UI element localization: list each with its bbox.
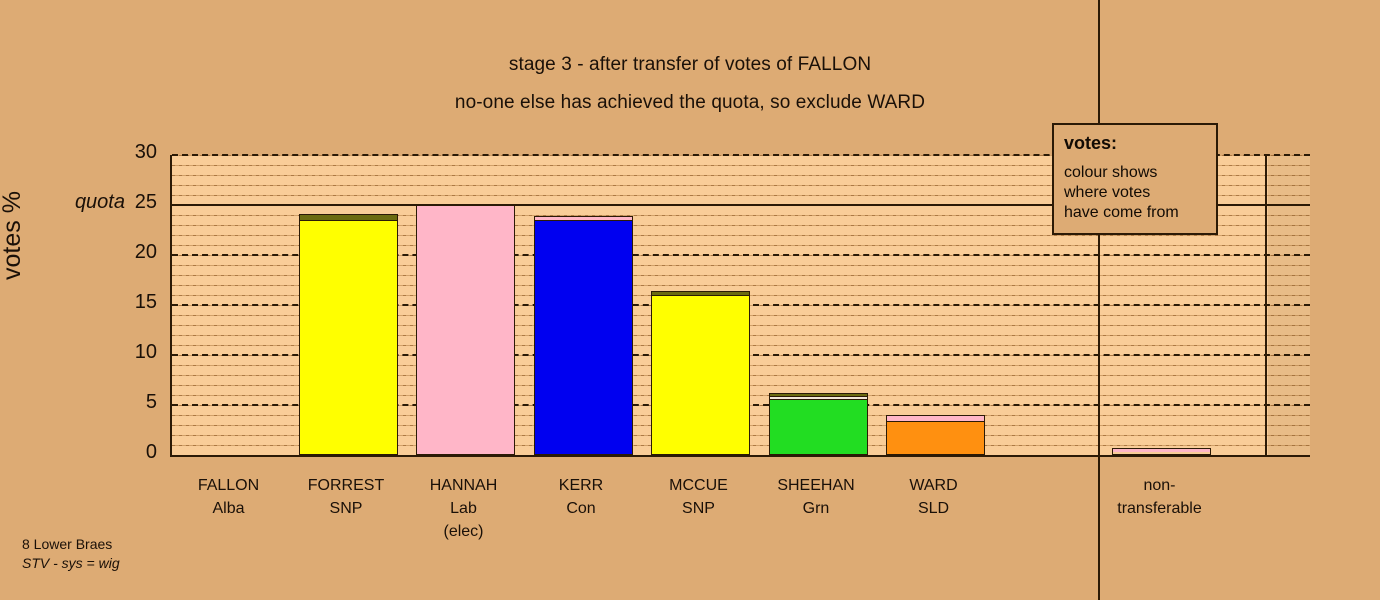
bar-segment-con xyxy=(535,220,632,454)
bar-non-transferable xyxy=(1112,448,1211,455)
bar-hannah xyxy=(416,205,515,455)
plot-right-divider xyxy=(1265,155,1267,457)
bar-sheehan xyxy=(769,393,868,455)
bar-segment-sld xyxy=(887,421,984,454)
footer-ward-name: 8 Lower Braes xyxy=(22,536,120,552)
bar-segment-lab xyxy=(1113,449,1210,452)
bar-ward xyxy=(886,415,985,455)
x-label-ward: WARDSLD xyxy=(844,474,1024,520)
y-tick-20: 20 xyxy=(97,241,157,264)
x-label-line: (elec) xyxy=(374,520,554,543)
legend-line-2: where votes xyxy=(1064,183,1206,203)
x-label-line: SLD xyxy=(844,497,1024,520)
legend-body: colour shows where votes have come from xyxy=(1064,163,1206,223)
chart-subtitle: no-one else has achieved the quota, so e… xyxy=(0,92,1380,114)
bar-mccue xyxy=(651,291,750,455)
x-label-line: WARD xyxy=(844,474,1024,497)
bar-forrest xyxy=(299,214,398,455)
footer: 8 Lower Braes STV - sys = wig xyxy=(22,536,120,571)
y-tick-15: 15 xyxy=(97,291,157,314)
y-tick-0: 0 xyxy=(97,441,157,464)
bar-kerr xyxy=(534,216,633,455)
x-label-non-transferable: non-transferable xyxy=(1070,474,1250,520)
x-label-line: transferable xyxy=(1070,497,1250,520)
y-tick-5: 5 xyxy=(97,391,157,414)
legend-line-1: colour shows xyxy=(1064,163,1206,183)
x-label-line: non- xyxy=(1070,474,1250,497)
bar-segment-snp xyxy=(300,220,397,454)
chart-canvas: stage 3 - after transfer of votes of FAL… xyxy=(0,0,1380,600)
y-tick-30: 30 xyxy=(97,141,157,164)
y-tick-25: 25 xyxy=(97,191,157,214)
y-tick-10: 10 xyxy=(97,341,157,364)
legend-box: votes: colour shows where votes have com… xyxy=(1052,123,1218,235)
legend-line-3: have come from xyxy=(1064,203,1206,223)
legend-title: votes: xyxy=(1064,133,1206,154)
chart-title: stage 3 - after transfer of votes of FAL… xyxy=(0,54,1380,76)
y-axis-title: votes % xyxy=(0,191,27,280)
bar-segment-snp xyxy=(652,295,749,454)
bar-segment-lab xyxy=(417,206,514,454)
footer-system: STV - sys = wig xyxy=(22,555,120,571)
bar-segment-grn xyxy=(770,399,867,454)
